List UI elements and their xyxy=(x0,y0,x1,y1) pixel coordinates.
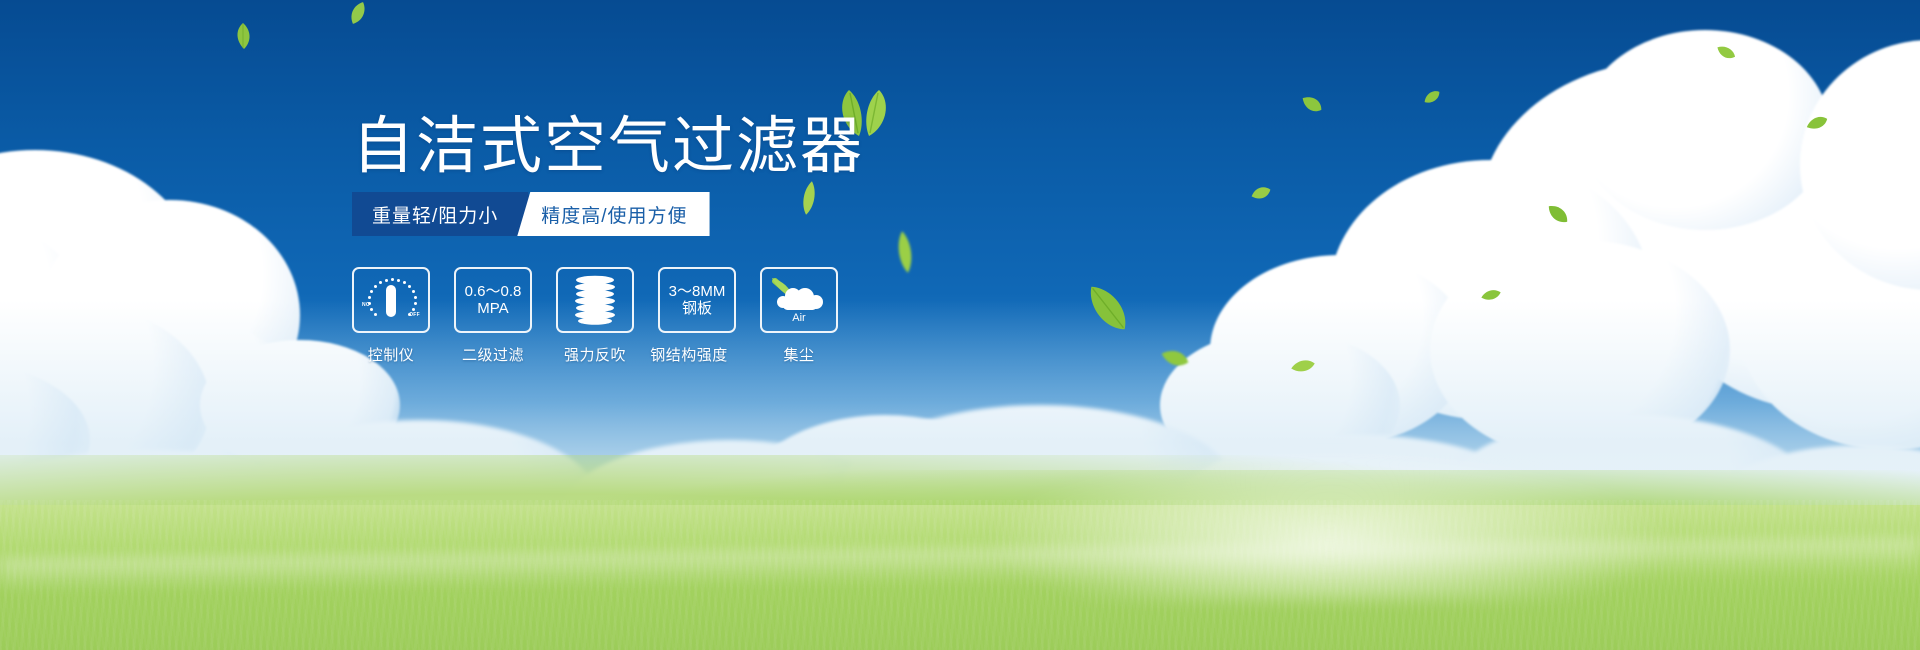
feature-box: NO OFF xyxy=(352,267,430,333)
feature-label: 二级过滤 xyxy=(462,344,524,365)
page-title: 自洁式空气过滤器 xyxy=(352,116,864,178)
feature-box xyxy=(556,267,634,333)
gauge-off-label: OFF xyxy=(409,312,420,318)
feature-row: NO OFF 控制仪 0.6～0.8 MPA 二级过滤 xyxy=(352,267,838,365)
feature-item-steel-structure-strength[interactable]: 3～8MM 钢板 钢结构强度 xyxy=(658,267,736,365)
hero-banner: 自洁式空气过滤器 重量轻/阻力小 精度高/使用方便 xyxy=(0,0,1920,650)
air-label: Air xyxy=(792,312,806,324)
pressure-text-icon: 0.6～0.8 MPA xyxy=(465,283,522,318)
air-cloud-icon: Air xyxy=(769,275,829,325)
steel-plate-text-icon: 3～8MM 钢板 xyxy=(669,283,726,318)
pressure-line2: MPA xyxy=(465,300,522,317)
filter-cartridge-icon xyxy=(572,275,618,325)
banner-content: 自洁式空气过滤器 重量轻/阻力小 精度高/使用方便 xyxy=(0,0,1920,650)
feature-label: 钢结构强度 xyxy=(634,344,744,365)
feature-item-strong-blowback[interactable]: 强力反吹 xyxy=(556,267,634,365)
feature-item-control-instrument[interactable]: NO OFF 控制仪 xyxy=(352,267,430,365)
pressure-line1: 0.6～0.8 xyxy=(465,283,522,300)
feature-box: Air xyxy=(760,267,838,333)
subtitle-left-chip: 重量轻/阻力小 xyxy=(352,192,528,236)
feature-label: 控制仪 xyxy=(368,344,415,365)
feature-box: 0.6～0.8 MPA xyxy=(454,267,532,333)
control-gauge-icon: NO OFF xyxy=(363,276,419,324)
steel-line2: 钢板 xyxy=(669,300,726,317)
feature-label: 强力反吹 xyxy=(564,344,626,365)
feature-item-dust-collection[interactable]: Air 集尘 xyxy=(760,267,838,365)
steel-line1: 3～8MM xyxy=(669,283,726,300)
feature-label: 集尘 xyxy=(783,344,814,365)
subtitle-right-chip: 精度高/使用方便 xyxy=(517,192,709,236)
feature-box: 3～8MM 钢板 xyxy=(658,267,736,333)
gauge-no-label: NO xyxy=(362,302,370,308)
subtitle-bar: 重量轻/阻力小 精度高/使用方便 xyxy=(352,192,710,236)
feature-item-secondary-filtration[interactable]: 0.6～0.8 MPA 二级过滤 xyxy=(454,267,532,365)
